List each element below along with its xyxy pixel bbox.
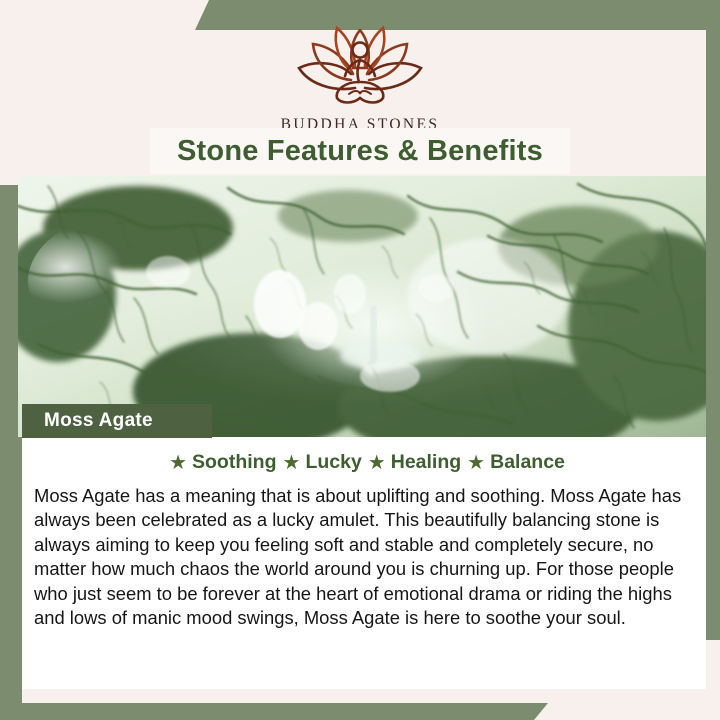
bottom-green-bar (0, 703, 548, 720)
benefits-row: ★ Soothing ★ Lucky ★ Healing ★ Balance (22, 451, 706, 474)
benefit-item: ★ Lucky (277, 451, 362, 474)
lotus-meditation-icon (0, 22, 720, 113)
brand-logo: BUDDHA STONES (0, 22, 720, 134)
star-icon: ★ (283, 453, 301, 473)
moss-agate-stone-photo (18, 176, 706, 437)
stone-description: Moss Agate has a meaning that is about u… (34, 484, 694, 631)
benefit-item: ★ Healing (362, 451, 461, 474)
star-icon: ★ (467, 453, 485, 473)
stone-name-banner: Moss Agate (22, 404, 212, 438)
benefit-item: ★ Soothing (163, 451, 276, 474)
page-title-text: Stone Features & Benefits (177, 135, 543, 168)
infographic-card: BUDDHA STONES (0, 0, 720, 720)
benefit-label: Healing (391, 451, 461, 474)
star-icon: ★ (169, 453, 187, 473)
benefit-item: ★ Balance (461, 451, 565, 474)
content-panel: ★ Soothing ★ Lucky ★ Healing ★ Balance M… (22, 437, 706, 689)
star-icon: ★ (368, 453, 386, 473)
benefit-label: Balance (490, 451, 565, 474)
page-title: Stone Features & Benefits (150, 128, 570, 174)
stone-name-label: Moss Agate (22, 410, 153, 432)
benefit-label: Lucky (305, 451, 361, 474)
benefit-label: Soothing (192, 451, 276, 474)
